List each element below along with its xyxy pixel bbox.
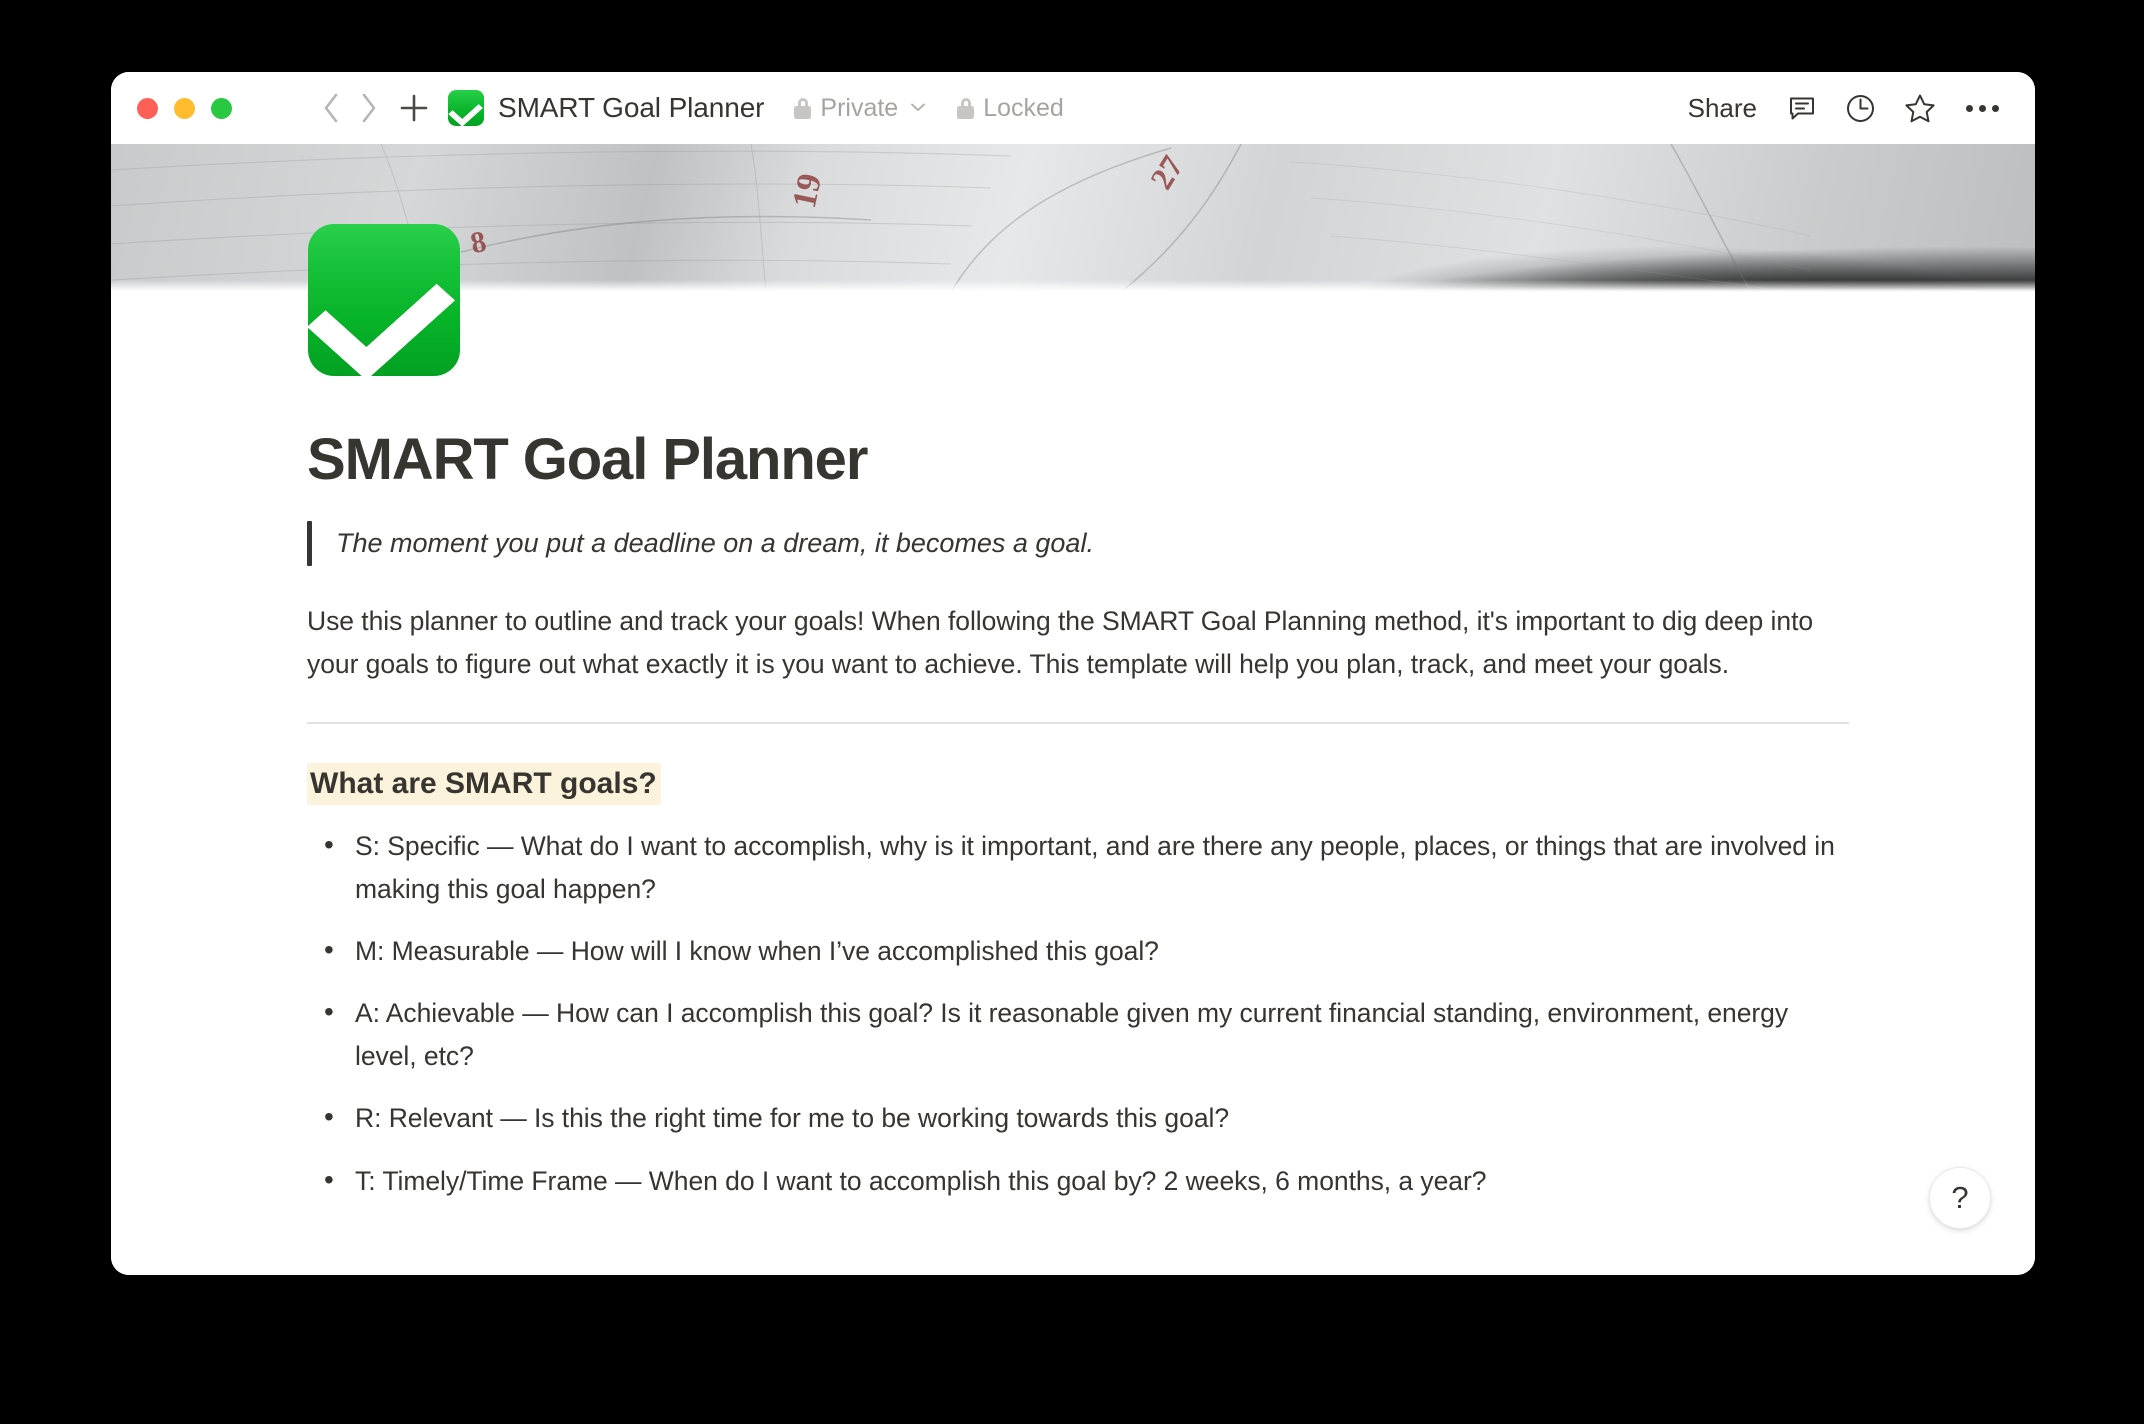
app-window: SMART Goal Planner Private Locked Share	[111, 72, 2035, 1275]
divider	[307, 722, 1849, 724]
lock-icon	[957, 98, 974, 119]
page-title-breadcrumb[interactable]: SMART Goal Planner	[498, 92, 764, 124]
plus-icon[interactable]	[392, 86, 436, 130]
share-button[interactable]: Share	[1686, 89, 1759, 128]
titlebar-actions: Share	[1686, 86, 2001, 130]
quote-text: The moment you put a deadline on a dream…	[336, 521, 1094, 566]
list-item[interactable]: S: Specific — What do I want to accompli…	[307, 825, 1852, 910]
clock-icon[interactable]	[1845, 86, 1876, 130]
maximize-window-button[interactable]	[211, 98, 232, 119]
quote-block[interactable]: The moment you put a deadline on a dream…	[307, 521, 1852, 566]
list-item[interactable]: A: Achievable — How can I accomplish thi…	[307, 992, 1852, 1077]
list-item[interactable]: M: Measurable — How will I know when I’v…	[307, 930, 1852, 972]
list-item[interactable]: R: Relevant — Is this the right time for…	[307, 1097, 1852, 1139]
comment-icon[interactable]	[1787, 86, 1817, 130]
ellipsis-icon[interactable]	[1964, 97, 2001, 120]
quote-bar	[307, 521, 312, 566]
page-icon-white-check-mark[interactable]	[308, 224, 460, 376]
white-check-mark-icon	[448, 90, 484, 126]
section-heading[interactable]: What are SMART goals?	[307, 763, 661, 805]
locked-status[interactable]: Locked	[957, 94, 1064, 123]
content-column: SMART Goal Planner The moment you put a …	[307, 428, 1852, 1222]
document-title[interactable]: SMART Goal Planner	[307, 428, 1852, 493]
privacy-selector[interactable]: Private	[794, 94, 927, 123]
list-item[interactable]: T: Timely/Time Frame — When do I want to…	[307, 1160, 1852, 1202]
intro-paragraph[interactable]: Use this planner to outline and track yo…	[307, 600, 1852, 686]
window-controls	[137, 98, 232, 119]
close-window-button[interactable]	[137, 98, 158, 119]
locked-label: Locked	[983, 94, 1064, 123]
section-heading-wrap: What are SMART goals?	[307, 764, 1852, 803]
star-icon[interactable]	[1904, 86, 1936, 130]
chevron-right-icon[interactable]	[350, 86, 388, 130]
minimize-window-button[interactable]	[174, 98, 195, 119]
privacy-label: Private	[820, 94, 898, 123]
page-content: SMART Goal Planner The moment you put a …	[111, 292, 2035, 1275]
titlebar: SMART Goal Planner Private Locked Share	[111, 72, 2035, 144]
help-button[interactable]: ?	[1929, 1167, 1991, 1229]
chevron-down-icon	[909, 98, 927, 118]
hamburger-icon[interactable]	[256, 86, 290, 130]
lock-icon	[794, 98, 811, 119]
chevron-left-icon[interactable]	[312, 86, 350, 130]
smart-goals-list: S: Specific — What do I want to accompli…	[307, 825, 1852, 1202]
